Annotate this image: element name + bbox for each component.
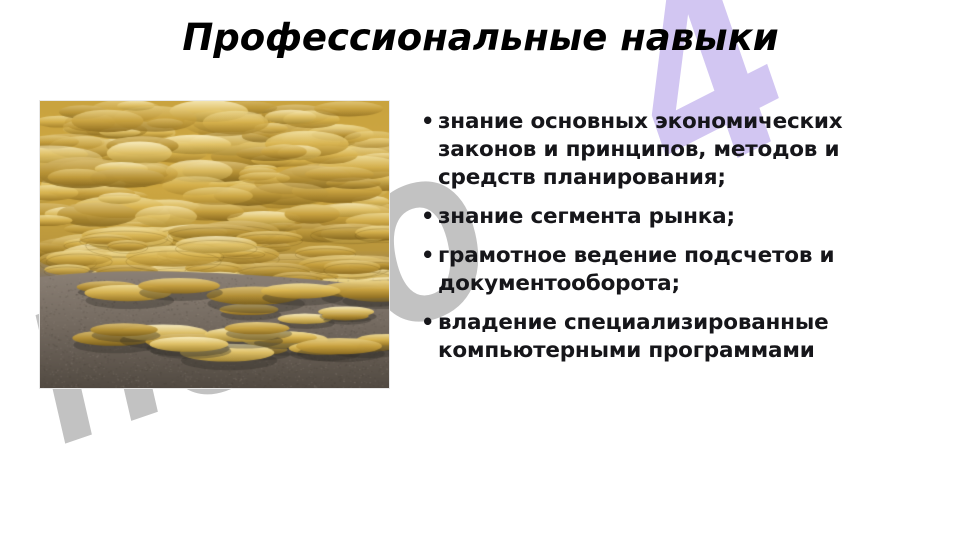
photo-canvas bbox=[40, 101, 389, 388]
list-item: владение специализированные компьютерным… bbox=[419, 309, 871, 365]
skills-bullet-list: знание основных экономических законов и … bbox=[419, 108, 871, 365]
list-item: знание сегмента рынка; bbox=[419, 203, 871, 231]
coins-businessman-photo bbox=[40, 101, 389, 388]
slide-title: Профессиональные навыки bbox=[0, 16, 961, 59]
presentation-slide: 4 HOSO Профессиональные навыки знание ос… bbox=[0, 0, 961, 540]
list-item: грамотное ведение подсчетов и документоо… bbox=[419, 242, 871, 298]
list-item: знание основных экономических законов и … bbox=[419, 108, 871, 192]
